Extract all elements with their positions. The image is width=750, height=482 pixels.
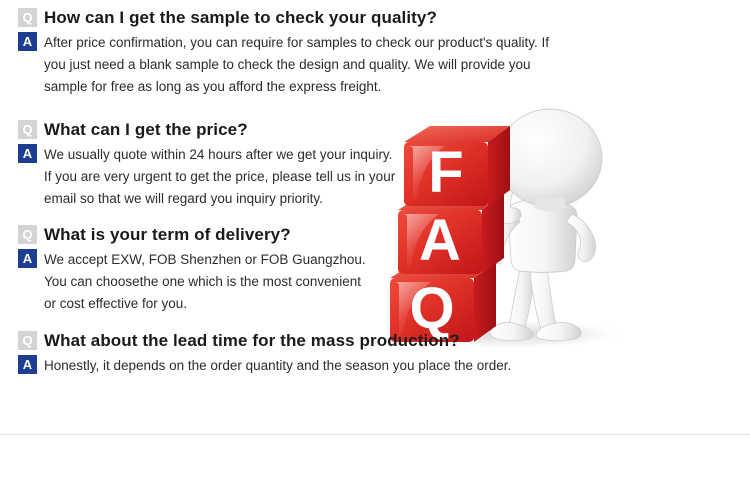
answer-badge-icon: A (18, 355, 37, 374)
faq-answer-text: After price confirmation, you can requir… (44, 32, 554, 98)
block-spacer (0, 210, 750, 225)
faq-item: Q What can I get the price? A We usually… (0, 120, 750, 210)
answer-badge-icon: A (18, 32, 37, 51)
faq-question-text: What is your term of delivery? (44, 225, 291, 244)
question-badge-icon: Q (18, 120, 37, 139)
faq-answer-row: A After price confirmation, you can requ… (0, 32, 750, 98)
faq-question-row: Q What about the lead time for the mass … (0, 331, 750, 350)
block-spacer (0, 315, 750, 331)
question-badge-icon: Q (18, 8, 37, 27)
faq-question-text: How can I get the sample to check your q… (44, 8, 437, 27)
question-badge-icon: Q (18, 225, 37, 244)
question-badge-icon: Q (18, 331, 37, 350)
answer-badge-icon: A (18, 249, 37, 268)
faq-question-row: Q How can I get the sample to check your… (0, 8, 750, 27)
faq-page: Q A F Q (0, 0, 750, 482)
top-spacer (0, 0, 750, 8)
faq-question-text: What can I get the price? (44, 120, 248, 139)
faq-question-row: Q What can I get the price? (0, 120, 750, 139)
faq-answer-text: We accept EXW, FOB Shenzhen or FOB Guang… (44, 249, 376, 315)
faq-item: Q What is your term of delivery? A We ac… (0, 225, 750, 315)
faq-answer-row: A We accept EXW, FOB Shenzhen or FOB Gua… (0, 249, 750, 315)
faq-answer-text: We usually quote within 24 hours after w… (44, 144, 396, 210)
faq-list: Q How can I get the sample to check your… (0, 0, 750, 377)
faq-question-row: Q What is your term of delivery? (0, 225, 750, 244)
bottom-divider (0, 434, 750, 435)
block-spacer (0, 98, 750, 120)
answer-badge-icon: A (18, 144, 37, 163)
faq-item: Q What about the lead time for the mass … (0, 331, 750, 377)
faq-answer-row: A We usually quote within 24 hours after… (0, 144, 750, 210)
faq-item: Q How can I get the sample to check your… (0, 8, 750, 98)
faq-answer-text: Honestly, it depends on the order quanti… (44, 355, 511, 377)
faq-question-text: What about the lead time for the mass pr… (44, 331, 460, 350)
faq-answer-row: A Honestly, it depends on the order quan… (0, 355, 750, 377)
